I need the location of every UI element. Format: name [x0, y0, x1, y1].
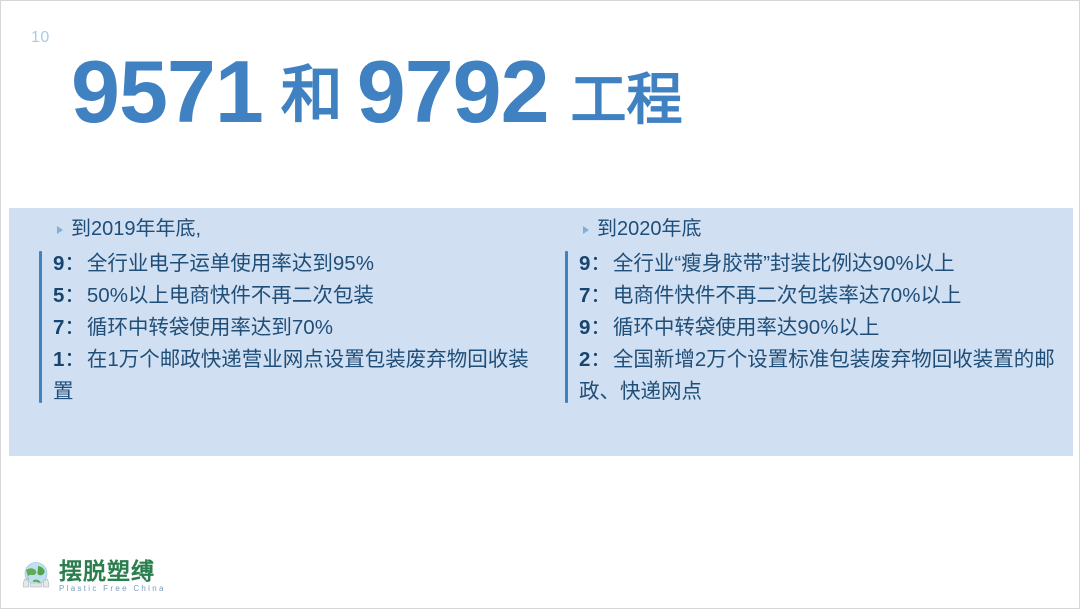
list-item-colon: ： [64, 252, 85, 275]
list-item-number: 7 [579, 284, 590, 307]
title-suffix: 工程 [571, 72, 683, 128]
triangle-right-icon [57, 226, 63, 234]
list-item: 9：全行业电子运单使用率达到95% [53, 248, 529, 279]
goal-list-2019: 9：全行业电子运单使用率达到95% 5：50%以上电商快件不再二次包装 7：循环… [39, 248, 529, 407]
accent-bar-left [39, 251, 42, 403]
content-column-2020: 到2020年底 9：全行业“瘦身胶带”封装比例达90%以上 7：电商件快件不再二… [541, 208, 1073, 456]
list-item-colon: ： [590, 284, 611, 307]
list-item-text: 全国新增2万个设置标准包装废弃物回收装置的邮政、快递网点 [579, 348, 1055, 402]
list-item: 7：电商件快件不再二次包装率达70%以上 [579, 280, 1063, 311]
column-heading-2020-label: 到2020年底 [597, 217, 702, 242]
title-number-first: 9571 [71, 48, 263, 136]
list-item: 9：循环中转袋使用率达90%以上 [579, 312, 1063, 343]
list-item-text: 50%以上电商快件不再二次包装 [87, 284, 374, 307]
column-heading-2019: 到2019年年底, [39, 217, 529, 242]
title-conjunction: 和 [281, 65, 343, 127]
list-item-colon: ： [64, 316, 85, 339]
content-columns: 到2019年年底, 9：全行业电子运单使用率达到95% 5：50%以上电商快件不… [9, 208, 1073, 456]
globe-logo-icon [19, 559, 53, 593]
list-item-text: 电商件快件不再二次包装率达70%以上 [613, 284, 962, 307]
triangle-right-icon [583, 226, 589, 234]
list-item: 1：在1万个邮政快递营业网点设置包装废弃物回收装置 [53, 344, 529, 406]
list-item-number: 5 [53, 284, 64, 307]
list-item-colon: ： [64, 284, 85, 307]
accent-bar-right [565, 251, 568, 403]
list-item-number: 9 [53, 252, 64, 275]
list-item-number: 2 [579, 348, 590, 371]
list-item: 5：50%以上电商快件不再二次包装 [53, 280, 529, 311]
list-item: 7：循环中转袋使用率达到70% [53, 312, 529, 343]
logo-text-block: 摆脱塑缚 Plastic Free China [59, 559, 166, 594]
list-item-colon: ： [590, 316, 611, 339]
logo-name-cn: 摆脱塑缚 [59, 559, 166, 583]
list-item-number: 1 [53, 348, 64, 371]
list-item: 2：全国新增2万个设置标准包装废弃物回收装置的邮政、快递网点 [579, 344, 1063, 406]
column-heading-2020: 到2020年底 [565, 217, 1063, 242]
slide-canvas: 10 9571 和 9792 工程 到2019年年底, 9：全行业电子运单使用率… [0, 0, 1080, 609]
list-item-number: 9 [579, 316, 590, 339]
goal-list-2020: 9：全行业“瘦身胶带”封装比例达90%以上 7：电商件快件不再二次包装率达70%… [565, 248, 1063, 407]
list-item-colon: ： [590, 252, 611, 275]
list-item-text: 全行业电子运单使用率达到95% [87, 252, 374, 275]
list-item-text: 循环中转袋使用率达90%以上 [613, 316, 880, 339]
page-title: 9571 和 9792 工程 [71, 37, 1031, 147]
list-item-text: 在1万个邮政快递营业网点设置包装废弃物回收装置 [53, 348, 529, 402]
list-item-colon: ： [64, 348, 85, 371]
logo-name-en: Plastic Free China [59, 584, 166, 594]
title-number-second: 9792 [357, 48, 549, 136]
list-item-colon: ： [590, 348, 611, 371]
footer-logo: 摆脱塑缚 Plastic Free China [19, 556, 166, 596]
list-item-number: 7 [53, 316, 64, 339]
list-item-number: 9 [579, 252, 590, 275]
list-item: 9：全行业“瘦身胶带”封装比例达90%以上 [579, 248, 1063, 279]
content-column-2019: 到2019年年底, 9：全行业电子运单使用率达到95% 5：50%以上电商快件不… [9, 208, 541, 456]
list-item-text: 全行业“瘦身胶带”封装比例达90%以上 [613, 252, 955, 275]
content-panel: 到2019年年底, 9：全行业电子运单使用率达到95% 5：50%以上电商快件不… [9, 208, 1073, 456]
column-heading-2019-label: 到2019年年底, [71, 217, 201, 242]
page-number: 10 [31, 30, 50, 46]
list-item-text: 循环中转袋使用率达到70% [87, 316, 333, 339]
